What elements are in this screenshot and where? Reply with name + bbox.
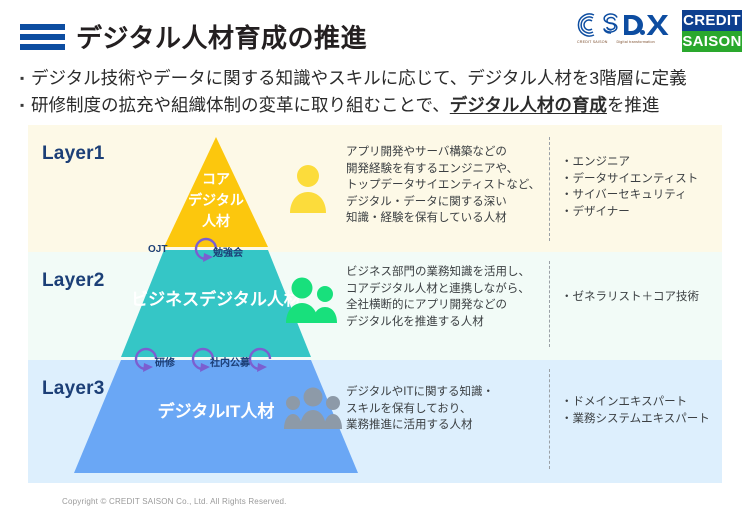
skill-item: ・ドメインエキスパート [561,394,710,411]
bullet-segment: デジタル技術やデータに関する知識やスキルに応じて、デジタル人材を3階層に定義 [31,68,687,88]
layer-label-3: Layer3 [42,378,104,400]
slide-header: デジタル人材育成の推進 [0,0,750,58]
bullet-item: ▪ 研修制度の拡充や組織体制の変革に取り組むことで、デジタル人材の育成を推進 [20,93,735,117]
bullet-marker: ▪ [20,66,31,90]
bullet-text: 研修制度の拡充や組織体制の変革に取り組むことで、デジタル人材の育成を推進 [31,93,659,117]
desc-line: デジタル化を推進する人材 [346,314,530,331]
desc-line: アプリ開発やサーバ構築などの [346,144,540,161]
connector-label-ojt: OJT [148,244,167,255]
layer-label-2: Layer2 [42,270,104,292]
desc-line: スキルを保有しており、 [346,401,494,418]
desc-line: 全社横断的にアプリ開発などの [346,297,530,314]
bullet-marker: ▪ [20,93,31,117]
desc-line: トップデータサイエンティストなど、 [346,177,540,194]
skill-item: ・エンジニア [561,154,698,171]
hamburger-bars-icon [20,24,65,50]
credit-saison-logo-line1: CREDIT [682,10,742,31]
csdx-logo-subtitle: CREDIT SAISONDigital transformation [577,40,675,44]
layer-2-skill-list: ・ゼネラリスト＋コア技術 [561,289,699,306]
skill-item: ・デザイナー [561,204,698,221]
desc-line: 業務推進に活用する人材 [346,417,494,434]
column-divider-3 [549,369,550,469]
bullet-list: ▪ デジタル技術やデータに関する知識やスキルに応じて、デジタル人材を3階層に定義… [20,66,735,120]
skill-item: ・ゼネラリスト＋コア技術 [561,289,699,306]
column-divider-1 [549,137,550,241]
desc-line: 開発経験を有するエンジニアや、 [346,161,540,178]
three-people-icon [283,387,343,429]
column-divider-2 [549,261,550,347]
footer-copyright: Copyright © CREDIT SAISON Co., Ltd. All … [62,497,287,506]
bullet-segment: を推進 [607,95,660,115]
skill-item: ・データサイエンティスト [561,171,698,188]
csdx-sub-right: Digital transformation [617,40,655,44]
credit-saison-logo-line2: SAISON [682,31,742,52]
skill-item: ・サイバーセキュリティ [561,187,698,204]
logo-area: CREDIT SAISONDigital transformation CRED… [576,10,742,54]
csdx-sub-left: CREDIT SAISON [577,40,608,44]
bullet-segment: 研修制度の拡充や組織体制の変革に取り組むことで、 [31,95,450,115]
two-people-icon [285,275,337,323]
layer-3-description: デジタルやITに関する知識・ スキルを保有しており、 業務推進に活用する人材 [346,384,494,434]
csdx-logo: CREDIT SAISONDigital transformation [576,10,674,52]
layer-3-skill-list: ・ドメインエキスパート ・業務システムエキスパート [561,394,710,427]
pyramid-tier-1-title: コア デジタル 人材 [156,169,276,232]
pyramid-tier-1-title-line2: デジタル [156,190,276,211]
desc-line: 知識・経験を保有している人材 [346,210,540,227]
desc-line: コアデジタル人材と連携しながら、 [346,281,530,298]
layer-1-description: アプリ開発やサーバ構築などの 開発経験を有するエンジニアや、 トップデータサイエ… [346,144,540,227]
connector-label-training: 研修 [155,354,175,369]
desc-line: デジタル・データに関する深い [346,194,540,211]
pyramid-diagram: コア デジタル 人材 ビジネスデジタル人材 デジタルIT人材 Layer1 La… [28,125,722,483]
page-title: デジタル人材育成の推進 [76,18,367,55]
credit-saison-logo: CREDIT SAISON [682,10,742,52]
layer-label-1: Layer1 [42,143,104,165]
connector-label-study-group: 勉強会 [213,244,243,259]
bullet-segment-emphasis: デジタル人材の育成 [450,95,607,115]
pyramid-tier-1-title-line3: 人材 [156,211,276,232]
pyramid-tier-1-title-line1: コア [156,169,276,190]
bullet-text: デジタル技術やデータに関する知識やスキルに応じて、デジタル人材を3階層に定義 [31,66,687,90]
connector-label-internal-recruitment: 社内公募 [210,354,250,369]
layer-2-description: ビジネス部門の業務知識を活用し、 コアデジタル人材と連携しながら、 全社横断的に… [346,264,530,330]
bullet-item: ▪ デジタル技術やデータに関する知識やスキルに応じて、デジタル人材を3階層に定義 [20,66,735,90]
skill-item: ・業務システムエキスパート [561,411,710,428]
desc-line: デジタルやITに関する知識・ [346,384,494,401]
desc-line: ビジネス部門の業務知識を活用し、 [346,264,530,281]
csdx-logo-mark [576,10,674,40]
layer-1-skill-list: ・エンジニア ・データサイエンティスト ・サイバーセキュリティ ・デザイナー [561,154,698,220]
single-person-icon [285,161,331,213]
